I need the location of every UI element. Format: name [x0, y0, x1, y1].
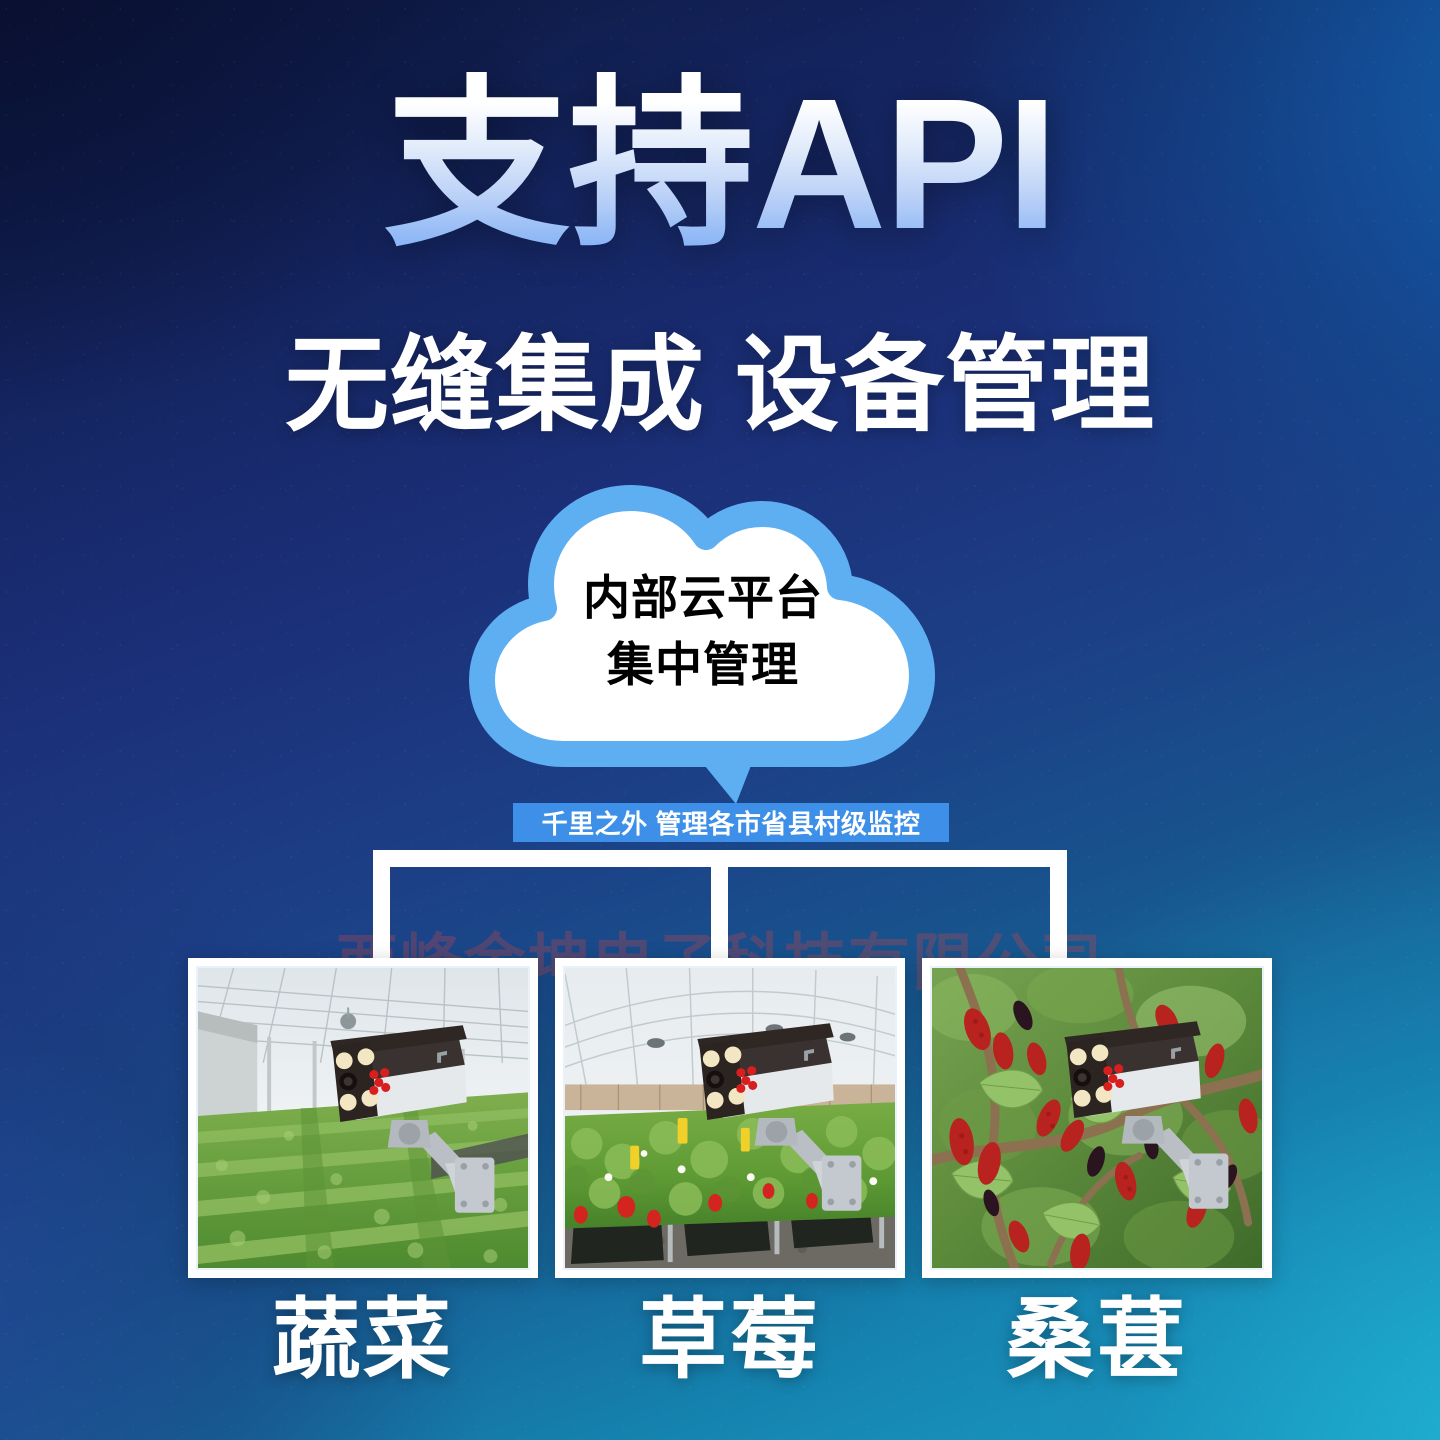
scene-photo-vegetable	[196, 966, 530, 1270]
poster-root: 西峰金坤电子科技有限公司 支持API 无缝集成 设备管理 内部云平台 集中管理 …	[0, 0, 1440, 1440]
greenhouse-vegetable-illustration	[198, 968, 528, 1268]
scene-label-vegetable: 蔬菜	[188, 1292, 538, 1389]
page-subtitle: 无缝集成 设备管理	[0, 325, 1440, 448]
scene-label-strawberry: 草莓	[555, 1292, 905, 1389]
coverage-banner-label: 千里之外 管理各市省县村级监控	[542, 804, 921, 841]
scene-card[interactable]	[188, 958, 538, 1278]
scene-photo-strawberry	[563, 966, 897, 1270]
cloud-line-1: 内部云平台	[468, 565, 938, 632]
tree-connector	[355, 850, 1085, 960]
scene-label-mulberry: 桑葚	[922, 1292, 1272, 1389]
scene-card-list	[188, 958, 1272, 1278]
coverage-banner: 千里之外 管理各市省县村级监控	[513, 803, 949, 842]
mulberry-branch-illustration	[932, 968, 1262, 1268]
cloud-line-2: 集中管理	[468, 632, 938, 699]
scene-card[interactable]	[922, 958, 1272, 1278]
scene-photo-mulberry	[930, 966, 1264, 1270]
connector-bracket-icon	[355, 850, 1085, 960]
page-title: 支持API	[0, 72, 1440, 258]
scene-card[interactable]	[555, 958, 905, 1278]
cloud-platform-text: 内部云平台 集中管理	[468, 565, 938, 698]
greenhouse-strawberry-illustration	[565, 968, 895, 1268]
cloud-platform-badge: 内部云平台 集中管理	[468, 482, 938, 812]
scene-label-list: 蔬菜 草莓 桑葚	[188, 1292, 1272, 1389]
